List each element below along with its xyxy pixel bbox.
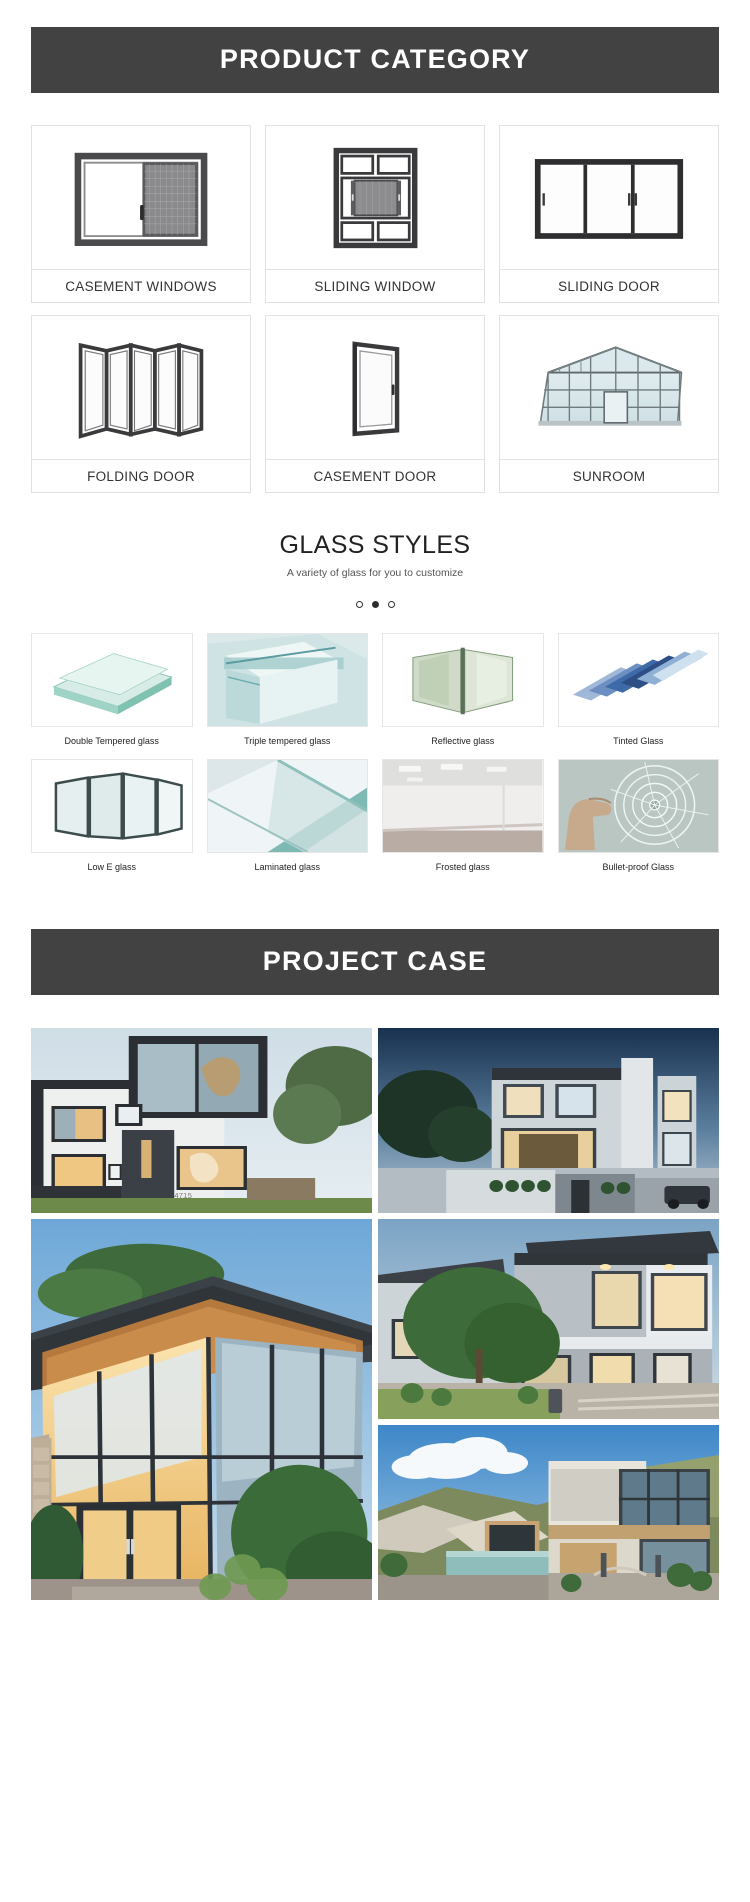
sliding-door-image bbox=[499, 125, 719, 270]
product-label: SUNROOM bbox=[499, 460, 719, 493]
project-photo-hillside-modern-villa-daylight[interactable] bbox=[378, 1425, 719, 1600]
glass-label: Tinted Glass bbox=[613, 736, 663, 747]
glass-label: Laminated glass bbox=[254, 862, 320, 873]
casement-door-image bbox=[265, 315, 485, 460]
product-category-banner: PRODUCT CATEGORY bbox=[31, 27, 719, 93]
product-category-grid: CASEMENT WINDOWS bbox=[0, 125, 750, 493]
bullet-proof-glass-image bbox=[558, 759, 720, 853]
glass-item-reflective[interactable]: Reflective glass bbox=[382, 633, 544, 747]
glass-label: Double Tempered glass bbox=[65, 736, 159, 747]
glass-item-low-e[interactable]: Low E glass bbox=[31, 759, 193, 873]
glass-styles-title: GLASS STYLES bbox=[0, 531, 750, 560]
glass-styles-grid: Double Tempered glass Triple tempered gl… bbox=[0, 633, 750, 873]
low-e-glass-image bbox=[31, 759, 193, 853]
product-label: CASEMENT DOOR bbox=[265, 460, 485, 493]
project-photo-glass-corner-house-warm-lit[interactable] bbox=[31, 1219, 372, 1600]
glass-styles-subtitle: A variety of glass for you to customize bbox=[0, 567, 750, 579]
laminated-glass-image bbox=[207, 759, 369, 853]
glass-label: Triple tempered glass bbox=[244, 736, 330, 747]
product-card-sliding-door[interactable]: SLIDING DOOR bbox=[499, 125, 719, 303]
project-case-banner-wrap: PROJECT CASE bbox=[0, 929, 750, 995]
carousel-dot-3[interactable] bbox=[388, 601, 395, 608]
glass-label: Bullet-proof Glass bbox=[602, 862, 674, 873]
product-label: SLIDING DOOR bbox=[499, 270, 719, 303]
project-case-mosaic: 4715 bbox=[0, 1028, 750, 1600]
reflective-glass-image bbox=[382, 633, 544, 727]
glass-label: Reflective glass bbox=[431, 736, 494, 747]
project-case-banner: PROJECT CASE bbox=[31, 929, 719, 995]
folding-door-image bbox=[31, 315, 251, 460]
glass-label: Low E glass bbox=[87, 862, 136, 873]
product-label: SLIDING WINDOW bbox=[265, 270, 485, 303]
project-photo-two-storey-house-with-trees[interactable] bbox=[378, 1219, 719, 1419]
glass-styles-header: GLASS STYLES A variety of glass for you … bbox=[0, 531, 750, 608]
product-category-banner-wrap: PRODUCT CATEGORY bbox=[0, 27, 750, 93]
product-label: FOLDING DOOR bbox=[31, 460, 251, 493]
product-card-sunroom[interactable]: SUNROOM bbox=[499, 315, 719, 493]
product-label: CASEMENT WINDOWS bbox=[31, 270, 251, 303]
product-card-casement-windows[interactable]: CASEMENT WINDOWS bbox=[31, 125, 251, 303]
glass-item-triple-tempered[interactable]: Triple tempered glass bbox=[207, 633, 369, 747]
casement-window-image bbox=[31, 125, 251, 270]
glass-label: Frosted glass bbox=[436, 862, 490, 873]
product-card-casement-door[interactable]: CASEMENT DOOR bbox=[265, 315, 485, 493]
double-tempered-glass-image bbox=[31, 633, 193, 727]
glass-item-frosted[interactable]: Frosted glass bbox=[382, 759, 544, 873]
carousel-dots[interactable] bbox=[0, 601, 750, 608]
frosted-glass-image bbox=[382, 759, 544, 853]
glass-item-laminated[interactable]: Laminated glass bbox=[207, 759, 369, 873]
product-card-sliding-window[interactable]: SLIDING WINDOW bbox=[265, 125, 485, 303]
glass-item-bullet-proof[interactable]: Bullet-proof Glass bbox=[558, 759, 720, 873]
sunroom-image bbox=[499, 315, 719, 460]
svg-text:4715: 4715 bbox=[174, 1191, 192, 1199]
project-photo-grey-villa-blue-hour[interactable] bbox=[378, 1028, 719, 1213]
carousel-dot-2-active[interactable] bbox=[372, 601, 379, 608]
triple-tempered-glass-image bbox=[207, 633, 369, 727]
tinted-glass-image bbox=[558, 633, 720, 727]
carousel-dot-1[interactable] bbox=[356, 601, 363, 608]
product-card-folding-door[interactable]: FOLDING DOOR bbox=[31, 315, 251, 493]
glass-item-double-tempered[interactable]: Double Tempered glass bbox=[31, 633, 193, 747]
sliding-window-image bbox=[265, 125, 485, 270]
glass-item-tinted[interactable]: Tinted Glass bbox=[558, 633, 720, 747]
project-photo-modern-white-black-house-dusk[interactable]: 4715 bbox=[31, 1028, 372, 1213]
